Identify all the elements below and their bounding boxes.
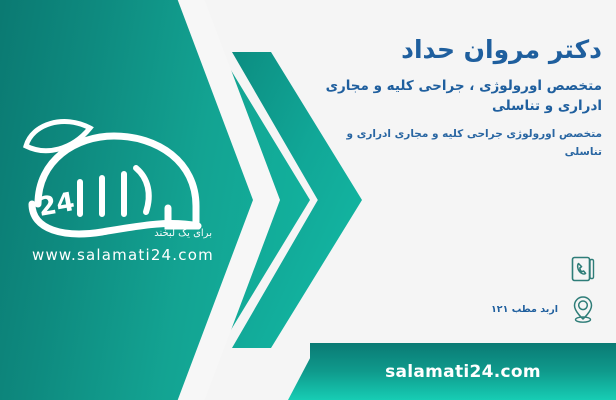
location-pin-icon xyxy=(566,292,600,326)
doctor-specialty-secondary: متخصص اورولوژی جراحی کلیه و مجاری ادراری… xyxy=(322,126,602,162)
contact-block: اربد مطب ۱۲۱ xyxy=(310,252,600,332)
phone-book-icon xyxy=(566,252,600,286)
apple-leaf-logo-icon: 24 xyxy=(18,108,218,248)
contact-row-phone[interactable] xyxy=(310,252,600,286)
svg-text:24: 24 xyxy=(36,187,77,223)
doctor-profile-card: 24 برای یک لبخند www.salamati24.com دکتر… xyxy=(0,0,616,400)
footer-website: salamati24.com xyxy=(385,362,541,382)
address-text: اربد مطب ۱۲۱ xyxy=(491,304,558,315)
doctor-name: دکتر مروان حداد xyxy=(322,34,602,65)
contact-row-address[interactable]: اربد مطب ۱۲۱ xyxy=(310,292,600,326)
logo-website-url: www.salamati24.com xyxy=(32,246,214,264)
footer-bar[interactable]: salamati24.com xyxy=(310,343,616,400)
doctor-specialty: متخصص اورولوژی ، جراحی کلیه و مجاری ادرا… xyxy=(322,77,602,116)
brand-logo: 24 برای یک لبخند www.salamati24.com xyxy=(18,108,218,278)
doctor-info: دکتر مروان حداد متخصص اورولوژی ، جراحی ک… xyxy=(322,34,602,162)
logo-tagline: برای یک لبخند xyxy=(154,228,212,239)
